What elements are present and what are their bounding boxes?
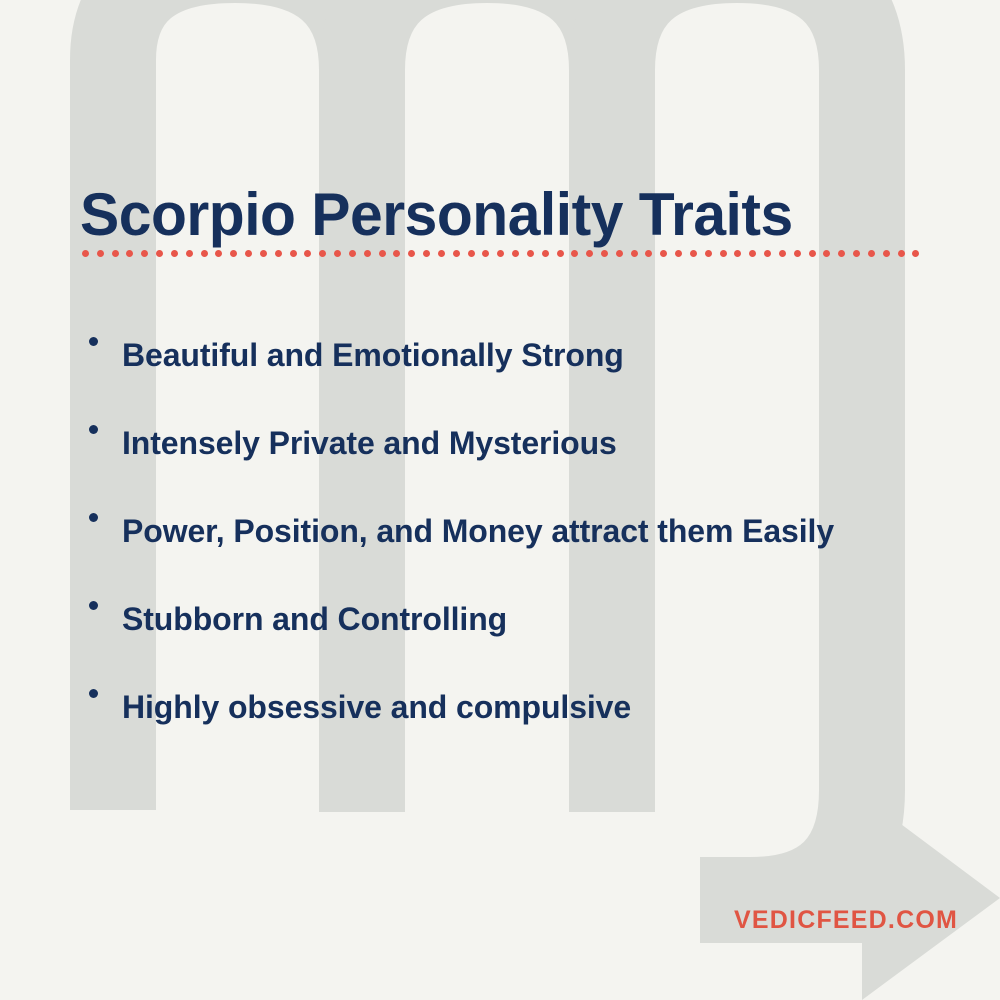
trait-label: Intensely Private and Mysterious: [122, 408, 972, 478]
divider-dot: [898, 250, 905, 257]
divider-dot: [705, 250, 712, 257]
divider-dot: [141, 250, 148, 257]
divider-dot: [779, 250, 786, 257]
divider-dot: [215, 250, 222, 257]
traits-list: Beautiful and Emotionally Strong Intense…: [82, 320, 972, 760]
trait-label: Stubborn and Controlling: [122, 584, 972, 654]
divider-dot: [853, 250, 860, 257]
divider-dot: [809, 250, 816, 257]
divider-dot: [720, 250, 727, 257]
trait-label: Power, Position, and Money attract them …: [122, 496, 972, 566]
trait-label: Highly obsessive and compulsive: [122, 672, 972, 742]
divider-dot: [453, 250, 460, 257]
bullet-icon: [82, 496, 122, 522]
divider-dot: [304, 250, 311, 257]
divider-dot: [675, 250, 682, 257]
divider-dot: [690, 250, 697, 257]
divider-dot: [571, 250, 578, 257]
divider-dot: [838, 250, 845, 257]
brand-watermark: VEDICFEED.COM: [734, 906, 958, 935]
divider-dot: [171, 250, 178, 257]
divider-dot: [408, 250, 415, 257]
divider-dot: [868, 250, 875, 257]
poster-canvas: Scorpio Personality Traits Beautiful and…: [0, 0, 1000, 1000]
page-title: Scorpio Personality Traits: [80, 178, 923, 252]
divider-dot: [616, 250, 623, 257]
divider-dot: [349, 250, 356, 257]
divider-dot: [82, 250, 89, 257]
bullet-icon: [82, 408, 122, 434]
list-item: Beautiful and Emotionally Strong: [82, 320, 972, 390]
divider-dot: [764, 250, 771, 257]
divider-dot: [186, 250, 193, 257]
divider-dot: [497, 250, 504, 257]
list-item: Intensely Private and Mysterious: [82, 408, 972, 478]
list-item: Power, Position, and Money attract them …: [82, 496, 972, 566]
divider-dot: [393, 250, 400, 257]
divider-dot: [557, 250, 564, 257]
trait-label: Beautiful and Emotionally Strong: [122, 320, 972, 390]
divider-dot: [586, 250, 593, 257]
dotted-divider: [82, 248, 920, 258]
divider-dot: [156, 250, 163, 257]
divider-dot: [112, 250, 119, 257]
divider-dot: [794, 250, 801, 257]
divider-dot: [527, 250, 534, 257]
divider-dot: [319, 250, 326, 257]
divider-dot: [660, 250, 667, 257]
divider-dot: [438, 250, 445, 257]
divider-dot: [126, 250, 133, 257]
divider-dot: [823, 250, 830, 257]
bullet-icon: [82, 320, 122, 346]
divider-dot: [601, 250, 608, 257]
divider-dot: [912, 250, 919, 257]
divider-dot: [97, 250, 104, 257]
divider-dot: [645, 250, 652, 257]
divider-dot: [423, 250, 430, 257]
bullet-icon: [82, 584, 122, 610]
divider-dot: [275, 250, 282, 257]
poster-content: Scorpio Personality Traits Beautiful and…: [0, 0, 1000, 1000]
bullet-icon: [82, 672, 122, 698]
divider-dot: [260, 250, 267, 257]
divider-dot: [734, 250, 741, 257]
divider-dot: [883, 250, 890, 257]
divider-dot: [334, 250, 341, 257]
list-item: Highly obsessive and compulsive: [82, 672, 972, 742]
divider-dot: [512, 250, 519, 257]
divider-dot: [542, 250, 549, 257]
divider-dot: [230, 250, 237, 257]
divider-dot: [201, 250, 208, 257]
divider-dot: [631, 250, 638, 257]
divider-dot: [749, 250, 756, 257]
divider-dot: [245, 250, 252, 257]
divider-dot: [468, 250, 475, 257]
divider-dot: [482, 250, 489, 257]
divider-dot: [364, 250, 371, 257]
list-item: Stubborn and Controlling: [82, 584, 972, 654]
divider-dot: [379, 250, 386, 257]
divider-dot: [290, 250, 297, 257]
